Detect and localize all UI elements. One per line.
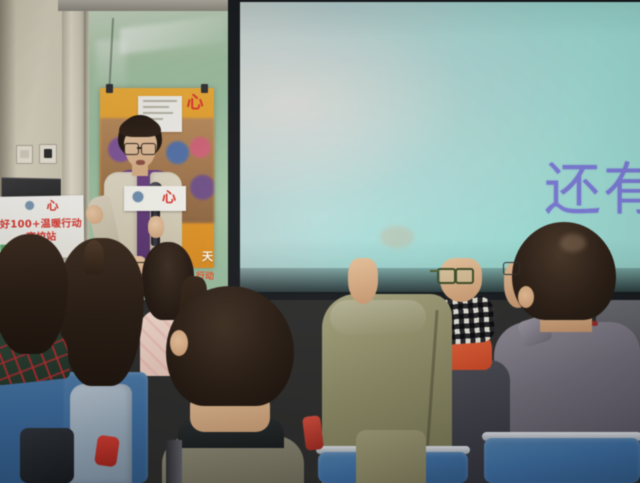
woman-far-left-hair [0, 234, 68, 354]
speaker-glasses-left-lens [124, 143, 139, 155]
man-gray-blazer-glasses [503, 262, 520, 275]
man-olive-jacket-highlight [330, 300, 426, 334]
poster-logo-mark-icon [166, 94, 180, 110]
man-olive-jacket-hair-highlight [380, 226, 414, 248]
poster-clip-left [106, 84, 113, 93]
speaker-mouth [136, 160, 145, 165]
sign-heart-logo-icon: 心 [45, 198, 59, 214]
man-scarf-glasses-left-lens [437, 268, 456, 284]
ceiling-strip [58, 0, 240, 11]
man-scarf-glasses-right-lens [455, 268, 474, 284]
man-gray-blazer-ear [518, 286, 534, 308]
sign-org-logo-icon [22, 199, 38, 213]
man-gray-blazer-body [494, 322, 640, 450]
speaker-right-hand [148, 216, 164, 238]
speaker-fringe [119, 117, 161, 137]
wall-outlet-plate[interactable] [39, 144, 57, 164]
olive-garment-bottom-right [356, 430, 426, 483]
light-switch-plate[interactable] [16, 145, 33, 164]
mic-flag-heart-logo-icon: 心 [160, 189, 178, 208]
red-object-center [302, 415, 324, 451]
mic-flag-org-logo-icon [128, 190, 148, 207]
chair-bottom-right[interactable] [484, 438, 640, 483]
dark-bag [20, 428, 74, 483]
speaker-glasses-right-lens [141, 143, 156, 155]
poster-heart-logo-icon: 心 [184, 92, 206, 114]
chair-frame-leg [166, 440, 182, 483]
speaker-glasses-bridge [137, 147, 142, 149]
woman-long-hair-part [84, 240, 104, 274]
red-object-left [94, 435, 120, 468]
blue-jacket-on-chair [70, 384, 132, 483]
photo-scene: 还有这样一些孩子 心 天 行动 心 心 好100+温暖行动 高校站 [0, 0, 640, 483]
microphone-flag-card: 心 [124, 186, 186, 211]
man-gray-blazer-hair-highlight [560, 234, 586, 252]
foreground-man-ear [170, 330, 188, 356]
